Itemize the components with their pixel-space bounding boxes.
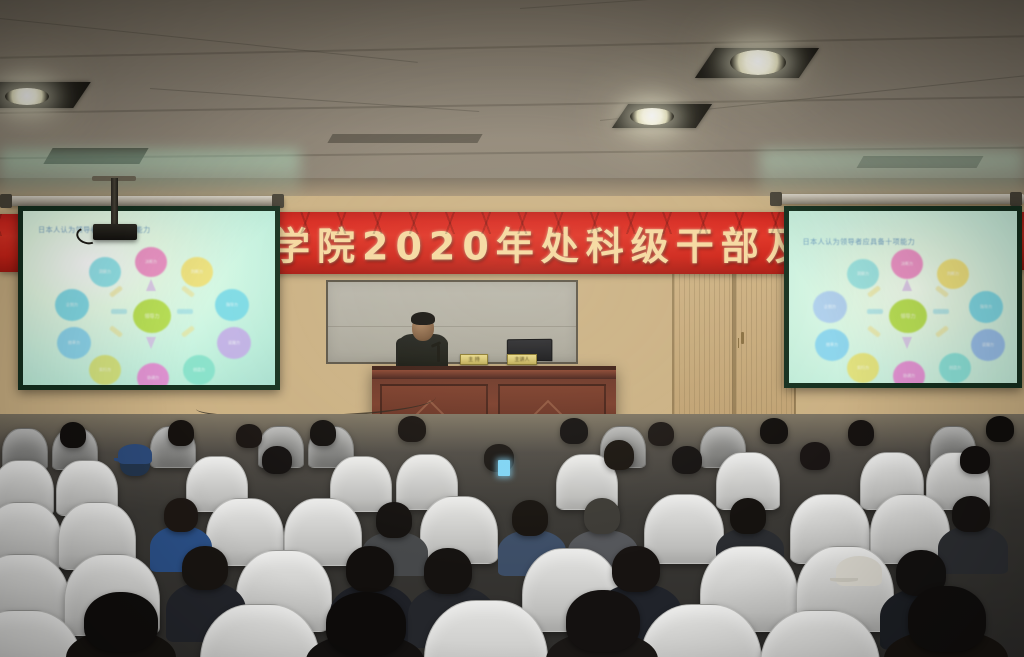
auditorium-scene: 学院2020年处科级干部及支部 日本人认为领导者应具备十项能力 领导力 决断力 — [0, 0, 1024, 657]
right-screen-roller — [774, 194, 1024, 204]
audience-head — [60, 422, 86, 448]
podium-top-edge — [372, 370, 616, 379]
audience-head — [604, 440, 634, 470]
projector-pole — [111, 178, 118, 226]
audience-head — [346, 546, 394, 592]
audience-head — [164, 498, 198, 532]
diagram-node: 创造力 — [939, 353, 971, 383]
event-banner: 学院2020年处科级干部及支部 — [272, 212, 800, 274]
podium-microphone — [437, 345, 440, 362]
audience-head — [376, 502, 412, 538]
audience-head — [168, 420, 194, 446]
diagram-node: 决断力 — [891, 249, 923, 279]
right-screen-roller-cap — [770, 192, 782, 206]
audience-head — [952, 496, 990, 532]
diagram-node: 说服力 — [217, 327, 251, 359]
left-screen-surface: 日本人认为领导者应具备十项能力 领导力 决断力 判断力 洞察力 企划力 指导力 … — [23, 211, 275, 385]
cap-brim — [830, 578, 858, 582]
audience-shoulders — [938, 526, 1008, 574]
diagram-node: 统率力 — [57, 327, 91, 359]
diagram-node: 指导力 — [215, 289, 249, 321]
ceiling-light-bulb — [5, 88, 49, 105]
diagram-node: 指导力 — [969, 291, 1003, 323]
diagram-node: 判断力 — [937, 259, 969, 289]
phone-screen-glow — [498, 460, 510, 476]
audience-head — [560, 418, 588, 444]
left-screen-roller-cap — [0, 194, 12, 208]
audience-head — [800, 442, 830, 470]
audience-head — [182, 546, 228, 590]
audience-head — [424, 548, 472, 594]
presenter-hair — [411, 312, 435, 325]
seated-audience — [0, 414, 1024, 657]
diagram-node: 协调力 — [893, 361, 925, 383]
name-card: 主 持 — [460, 354, 488, 365]
left-screen-roller — [6, 196, 284, 206]
ceiling-light-bulb — [730, 50, 786, 75]
door-handle[interactable] — [741, 332, 744, 344]
audience-head — [960, 446, 990, 474]
right-screen-surface: 日本人认为领导者应具备十项能力 领导力 决断力 判断力 洞察力 企划力 指导力 … — [789, 211, 1017, 383]
audience-head — [672, 446, 702, 474]
diagram-node: 说服力 — [971, 329, 1005, 361]
audience-head — [760, 418, 788, 444]
diagram-node: 统率力 — [815, 329, 849, 361]
audience-head — [326, 592, 406, 656]
diagram-center-node: 领导力 — [889, 299, 927, 333]
diagram-arrow-down — [146, 337, 156, 349]
cap-brim — [114, 458, 136, 462]
name-card-text: 主 持 — [461, 355, 487, 366]
audience-head — [310, 420, 336, 446]
audience-head — [848, 420, 874, 446]
audience-head — [584, 498, 620, 534]
diagram-node: 决断力 — [135, 247, 167, 277]
audience-head — [236, 424, 262, 448]
ceiling-vent — [327, 134, 482, 143]
screen-light-spill — [0, 150, 300, 200]
diagram-node: 洞察力 — [847, 259, 879, 289]
diagram-arrow-down — [902, 337, 912, 349]
diagram-node: 创造力 — [183, 355, 215, 385]
audience-head — [398, 416, 426, 442]
left-projection-screen: 日本人认为领导者应具备十项能力 领导力 决断力 判断力 洞察力 企划力 指导力 … — [18, 206, 280, 390]
diagram-node: 判断力 — [181, 257, 213, 287]
audience-head — [612, 546, 660, 592]
seat[interactable] — [644, 494, 724, 564]
right-slide-title: 日本人认为领导者应具备十项能力 — [803, 237, 916, 247]
audience-head — [908, 586, 986, 652]
audience-head — [512, 500, 548, 536]
audience-head — [262, 446, 292, 474]
diagram-node: 企划力 — [813, 291, 847, 323]
ceiling-light-bulb — [630, 108, 674, 125]
diagram-arrow-up — [146, 279, 156, 291]
right-projection-screen: 日本人认为领导者应具备十项能力 领导力 决断力 判断力 洞察力 企划力 指导力 … — [784, 206, 1022, 388]
ceiling-projector — [93, 224, 137, 240]
diagram-arrow-up — [902, 279, 912, 291]
diagram-node: 企划力 — [55, 289, 89, 321]
diagram-node: 洞察力 — [89, 257, 121, 287]
audience-head — [84, 592, 158, 652]
banner-title: 学院2020年处科级干部及支部 — [272, 216, 800, 271]
audience-head — [648, 422, 674, 446]
audience-head — [986, 416, 1014, 442]
side-door[interactable] — [672, 272, 734, 422]
right-screen-roller-cap — [1010, 192, 1022, 206]
diagram-node: 实行力 — [847, 353, 879, 383]
audience-head — [566, 590, 640, 652]
diagram-node: 实行力 — [89, 355, 121, 385]
name-card-text: 主讲人 — [508, 355, 536, 366]
name-card: 主讲人 — [507, 354, 537, 365]
left-slide-diagram: 领导力 决断力 判断力 洞察力 企划力 指导力 统率力 说服力 实行力 创造力 … — [49, 245, 259, 385]
audience-head — [730, 498, 766, 534]
diagram-node: 协调力 — [137, 363, 169, 385]
diagram-center-node: 领导力 — [133, 299, 171, 333]
right-slide-diagram: 领导力 决断力 判断力 洞察力 企划力 指导力 统率力 说服力 实行力 创造力 … — [811, 249, 1007, 383]
